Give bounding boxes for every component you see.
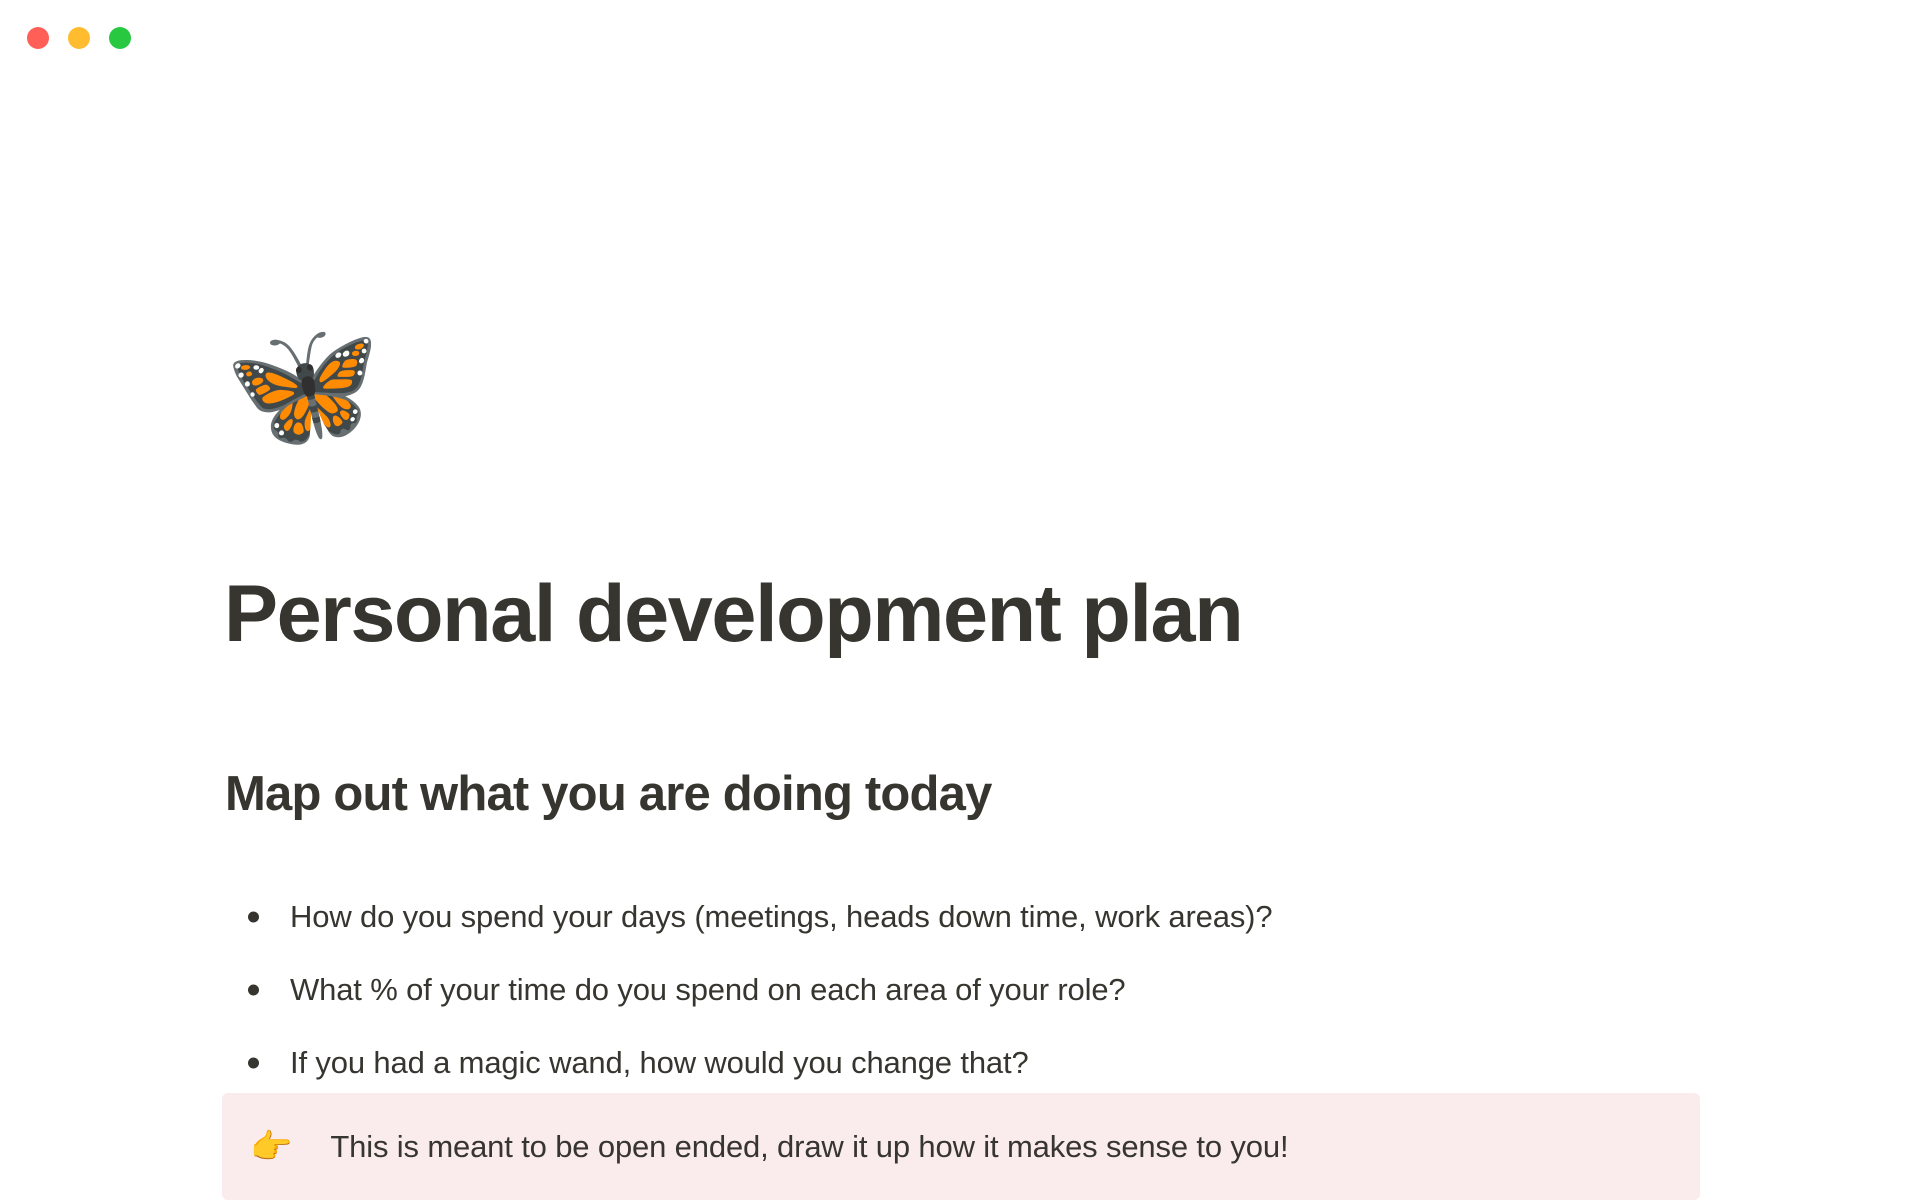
section-heading[interactable]: Map out what you are doing today [225,768,992,822]
document-page: 🦋 Personal development plan Map out what… [0,0,1920,1200]
list-item-label: What % of your time do you spend on each… [290,969,1126,1011]
callout-block[interactable]: 👉 This is meant to be open ended, draw i… [222,1093,1700,1200]
app-window: 🦋 Personal development plan Map out what… [0,0,1920,1200]
list-item-label: If you had a magic wand, how would you c… [290,1042,1029,1084]
bullet-list: How do you spend your days (meetings, he… [224,880,1704,1099]
callout-text: This is meant to be open ended, draw it … [330,1125,1288,1168]
page-title[interactable]: Personal development plan [224,572,1242,657]
bullet-dot-icon [248,911,259,922]
list-item[interactable]: How do you spend your days (meetings, he… [224,880,1704,953]
butterfly-emoji[interactable]: 🦋 [224,322,381,448]
list-item[interactable]: What % of your time do you spend on each… [224,953,1704,1026]
bullet-dot-icon [248,984,259,995]
pointing-right-emoji: 👉 [250,1130,292,1164]
list-item-label: How do you spend your days (meetings, he… [290,896,1272,938]
list-item[interactable]: If you had a magic wand, how would you c… [224,1026,1704,1099]
bullet-dot-icon [248,1057,259,1068]
